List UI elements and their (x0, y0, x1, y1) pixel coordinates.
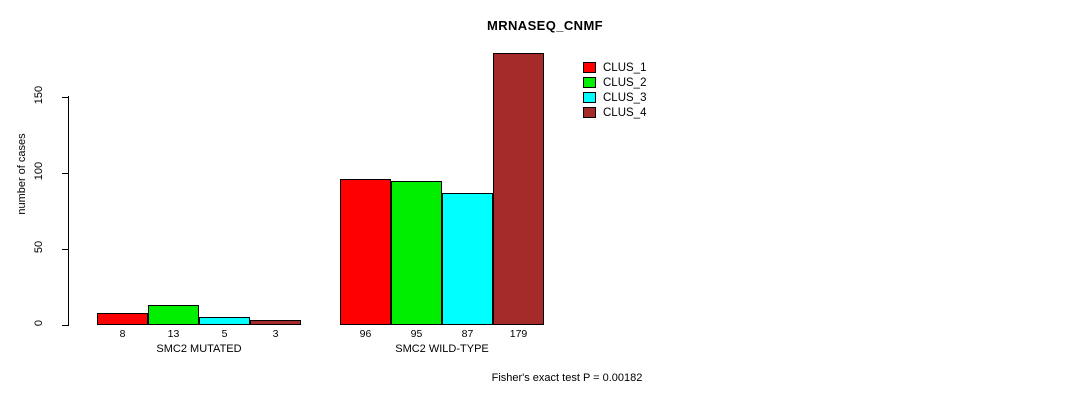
bar (493, 53, 544, 325)
legend-item: CLUS_3 (583, 90, 646, 105)
bar (391, 181, 442, 325)
legend-item: CLUS_2 (583, 75, 646, 90)
group-axis-label: SMC2 WILD-TYPE (340, 343, 544, 355)
bar-value-label: 96 (340, 328, 391, 340)
y-axis-tick-label: 100 (33, 154, 45, 188)
chart-legend: CLUS_1CLUS_2CLUS_3CLUS_4 (583, 60, 646, 120)
bar (97, 313, 148, 325)
legend-color-swatch (583, 92, 596, 103)
bar-value-label: 87 (442, 328, 493, 340)
legend-color-swatch (583, 62, 596, 73)
bar-value-label: 5 (199, 328, 250, 340)
y-axis-tick-label: 0 (33, 306, 45, 340)
bar-value-label: 95 (391, 328, 442, 340)
y-axis-tick (62, 173, 69, 174)
legend-item-label: CLUS_4 (603, 107, 646, 119)
bar (148, 305, 199, 325)
y-axis-tick (62, 97, 69, 98)
bar-value-label: 179 (493, 328, 544, 340)
y-axis-tick (62, 325, 69, 326)
y-axis-line (68, 96, 69, 326)
legend-item: CLUS_4 (583, 105, 646, 120)
legend-item-label: CLUS_2 (603, 77, 646, 89)
legend-item: CLUS_1 (583, 60, 646, 75)
legend-item-label: CLUS_3 (603, 92, 646, 104)
chart-title: MRNASEQ_CNMF (0, 18, 1090, 33)
chart-canvas: MRNASEQ_CNMF 050100150 number of cases 8… (0, 0, 1090, 400)
y-axis-tick-label: 150 (33, 78, 45, 112)
statistical-annotation: Fisher's exact test P = 0.00182 (0, 372, 1090, 384)
bar (199, 317, 250, 325)
y-axis-tick (62, 249, 69, 250)
y-axis-title: number of cases (16, 104, 28, 244)
legend-color-swatch (583, 77, 596, 88)
bar (442, 193, 493, 325)
bar-value-label: 8 (97, 328, 148, 340)
y-axis-tick-label: 50 (33, 230, 45, 264)
group-axis-label: SMC2 MUTATED (97, 343, 301, 355)
legend-item-label: CLUS_1 (603, 62, 646, 74)
bar-value-label: 13 (148, 328, 199, 340)
legend-color-swatch (583, 107, 596, 118)
bar (340, 179, 391, 325)
bar (250, 320, 301, 325)
bar-value-label: 3 (250, 328, 301, 340)
